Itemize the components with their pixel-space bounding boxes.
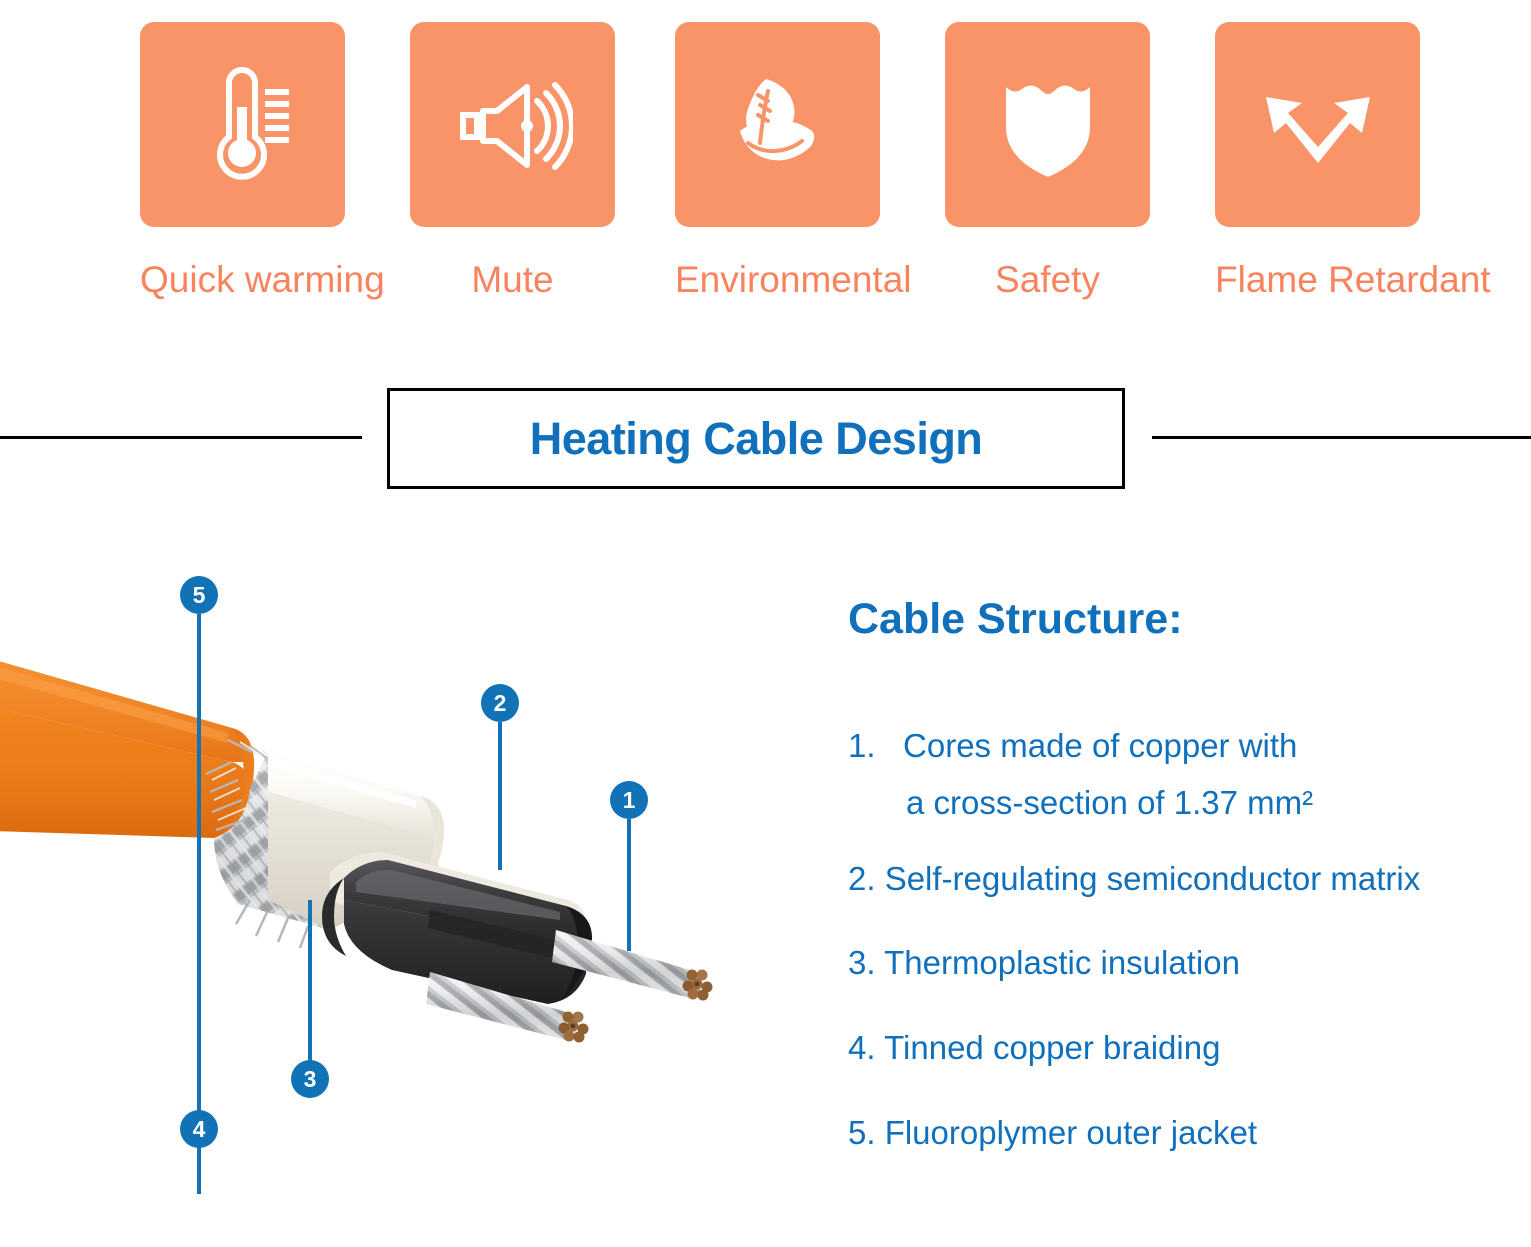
feature-icon-box [945,22,1150,227]
banner-rule-right [1152,436,1531,439]
feature-item-flame-retardant[interactable]: Flame Retardant [1215,22,1420,298]
feature-label: Flame Retardant [1215,261,1420,298]
feature-item-environmental[interactable]: Environmental [675,22,880,298]
page-title: Heating Cable Design [530,413,983,465]
callout-stem [498,722,502,870]
cable-cutaway-drawing [0,500,830,1247]
feature-label: Mute [410,261,615,298]
feature-strip: Quick warming Mute [0,0,1531,330]
feature-item-mute[interactable]: Mute [410,22,615,298]
callout-dot: 5 [180,576,218,614]
callout-dot: 1 [610,781,648,819]
feature-item-quick-warming[interactable]: Quick warming [140,22,345,298]
feature-icon-box [140,22,345,227]
speaker-sound-icon [453,65,573,185]
structure-item-2: 2. Self-regulating semiconductor matrix [848,858,1420,900]
callout-dot: 2 [481,684,519,722]
structure-item-1-line1: 1. Cores made of copper with [848,725,1297,767]
callout-stem [308,900,312,1062]
structure-item-1-line2: a cross-section of 1.37 mm² [906,782,1313,824]
structure-item-3: 3. Thermoplastic insulation [848,942,1240,984]
callout-dot: 3 [291,1060,329,1098]
structure-item-4: 4. Tinned copper braiding [848,1027,1220,1069]
structure-heading: Cable Structure: [848,598,1183,641]
callout-stem [627,819,631,951]
feature-icon-box [1215,22,1420,227]
feature-label: Quick warming [140,261,345,298]
structure-item-5: 5. Fluoroplymer outer jacket [848,1112,1257,1154]
callout-stem [197,840,201,1112]
feature-item-safety[interactable]: Safety [945,22,1150,298]
section-title-banner: Heating Cable Design [0,388,1531,493]
shield-icon [988,65,1108,185]
leaf-icon [718,65,838,185]
callout-dot: 4 [180,1110,218,1148]
zigzag-arrow-icon [1258,65,1378,185]
banner-rule-left [0,436,362,439]
thermometer-icon [183,65,303,185]
feature-label: Safety [945,261,1150,298]
feature-icon-box [410,22,615,227]
cable-structure-section: 5 2 1 3 4 Cable Structure: 1. Cores made… [0,500,1531,1247]
banner-title-box: Heating Cable Design [387,388,1125,489]
feature-label: Environmental [675,261,880,298]
feature-icon-box [675,22,880,227]
cable-illustration: 5 2 1 3 4 [0,500,830,1247]
